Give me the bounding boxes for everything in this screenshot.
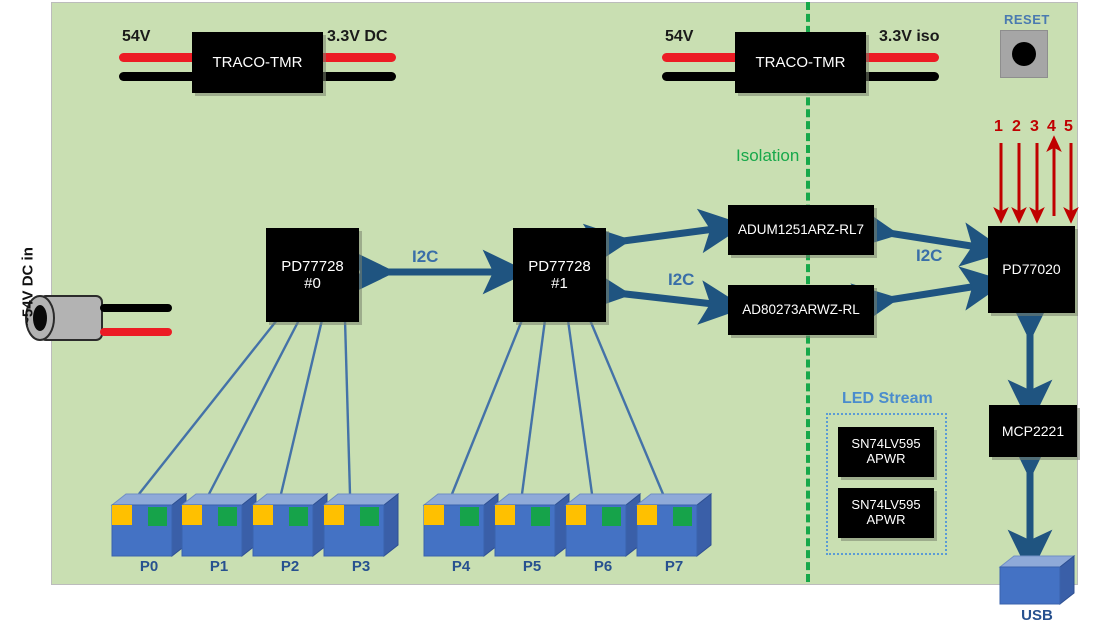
rail-gnd-in-left [119,72,199,81]
reset-button[interactable] [1012,42,1036,66]
chip-sn74lv595-1-line1: SN74LV595 [851,437,920,452]
signal-arrow-label-1: 1 [994,118,1003,136]
port-label-P5: P5 [495,558,569,575]
chip-pd77020-label: PD77020 [1002,261,1060,277]
chip-pd77728-0-line2: #0 [304,275,321,292]
rail-3v3-out-left [318,53,396,62]
chip-ad80273-label: AD80273ARWZ-RL [742,302,860,318]
label-54v-left: 54V [122,28,150,46]
rail-gnd-out-left [318,72,396,81]
chip-sn74lv595-2-line1: SN74LV595 [851,498,920,513]
chip-ad80273: AD80273ARWZ-RL [728,285,874,335]
chip-traco-tmr-left: TRACO-TMR [192,32,323,93]
chip-traco-tmr-right: TRACO-TMR [735,32,866,93]
label-3v3-iso: 3.3V iso [879,28,939,46]
rail-gnd-in-right [662,72,742,81]
chip-traco-tmr-left-label: TRACO-TMR [213,54,303,71]
chip-pd77020: PD77020 [988,226,1075,313]
i2c-label-iso-pd77020: I2C [916,246,942,266]
isolation-label: Isolation [736,146,799,166]
chip-traco-tmr-right-label: TRACO-TMR [756,54,846,71]
label-3v3-dc: 3.3V DC [327,28,387,46]
signal-arrow-label-4: 4 [1047,118,1056,136]
chip-pd77728-0: PD77728 #0 [266,228,359,322]
chip-pd77728-1-line2: #1 [551,275,568,292]
port-label-P0: P0 [112,558,186,575]
chip-pd77728-0-line1: PD77728 [281,258,344,275]
signal-arrow-label-2: 2 [1012,118,1021,136]
rail-gnd-iso-out [861,72,939,81]
chip-sn74lv595-1-line2: APWR [867,452,906,467]
signal-arrow-label-5: 5 [1064,118,1073,136]
i2c-label-pd1-iso: I2C [668,270,694,290]
port-label-P1: P1 [182,558,256,575]
rail-54v-in-right [662,53,742,62]
usb-label: USB [1000,607,1074,624]
rail-54v-in-left [119,53,199,62]
port-label-P7: P7 [637,558,711,575]
rail-3v3-iso-out [861,53,939,62]
chip-adum1251-label: ADUM1251ARZ-RL7 [738,222,864,238]
i2c-label-pd0-pd1: I2C [412,247,438,267]
reset-pad[interactable] [1000,30,1048,78]
chip-pd77728-1-line1: PD77728 [528,258,591,275]
chip-adum1251: ADUM1251ARZ-RL7 [728,205,874,255]
port-label-P4: P4 [424,558,498,575]
label-54v-right: 54V [665,28,693,46]
port-label-P3: P3 [324,558,398,575]
chip-sn74lv595-2-line2: APWR [867,513,906,528]
led-stream-title: LED Stream [842,390,933,408]
chip-sn74lv595-1: SN74LV595 APWR [838,427,934,477]
port-label-P2: P2 [253,558,327,575]
diagram-canvas: Isolation 54V 3.3V DC TRACO-TMR 54V 3.3V… [0,0,1100,630]
chip-mcp2221: MCP2221 [989,405,1077,457]
signal-arrow-label-3: 3 [1030,118,1039,136]
chip-mcp2221-label: MCP2221 [1002,423,1064,439]
port-label-P6: P6 [566,558,640,575]
chip-pd77728-1: PD77728 #1 [513,228,606,322]
chip-sn74lv595-2: SN74LV595 APWR [838,488,934,538]
dc-input-label: ~54V DC in [20,237,37,337]
reset-label: RESET [1004,12,1050,27]
